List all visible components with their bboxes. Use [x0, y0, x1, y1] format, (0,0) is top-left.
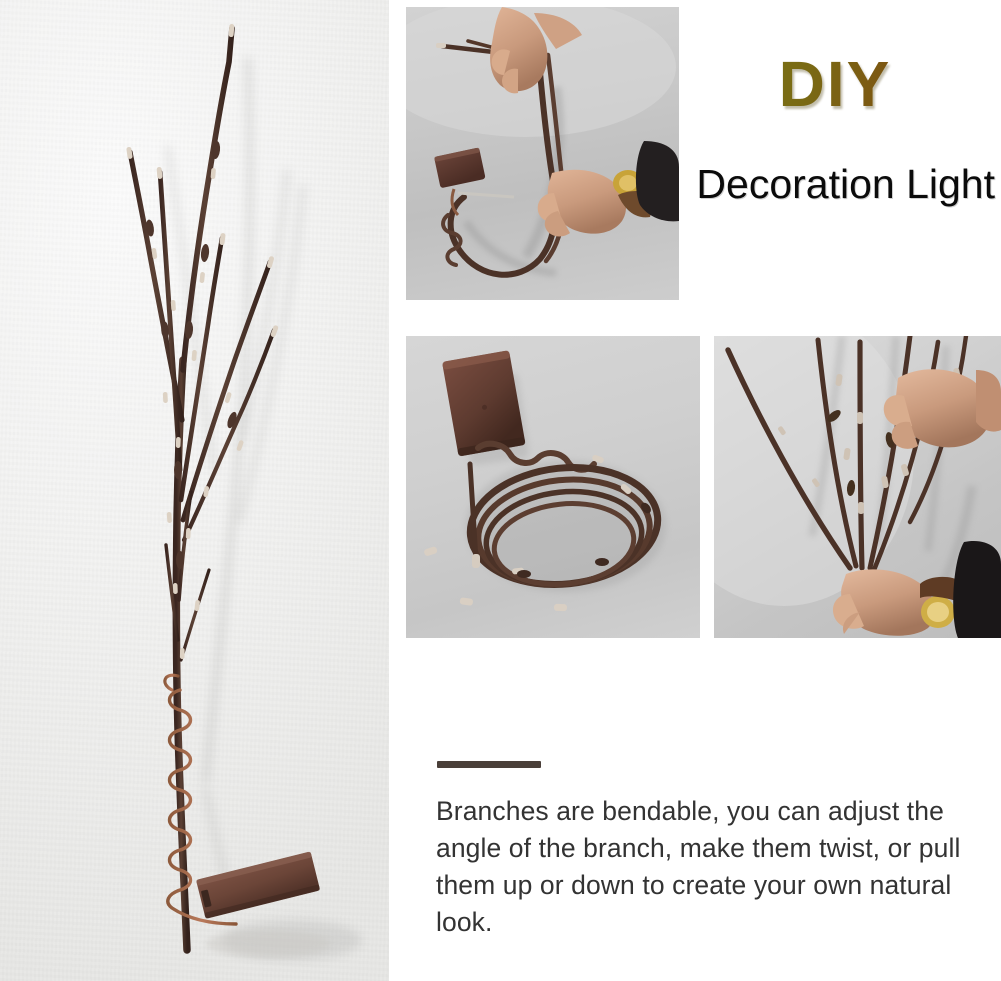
- battery-box-shadow: [206, 930, 330, 958]
- headline-subtitle: Decoration Light: [600, 163, 995, 206]
- battery-box: [434, 147, 486, 188]
- unwinding-illustration: [406, 7, 679, 300]
- bulb-tip: [436, 43, 446, 48]
- hand-upper: [884, 369, 1001, 449]
- battery-box: [442, 350, 526, 456]
- headline-diy: DIY: [690, 52, 980, 116]
- branch-sprig-c: [181, 570, 209, 660]
- panel-step-unwind-branches: [406, 7, 679, 300]
- branch-lights-illustration: [0, 0, 389, 981]
- panel-step-fan-out-branches: [714, 336, 1001, 638]
- battery-box: [196, 851, 320, 918]
- led-bulb-group: [126, 24, 279, 659]
- panel-product-hero: [0, 0, 389, 981]
- fan-out-illustration: [714, 336, 1001, 638]
- bulb-tip-a: [472, 554, 480, 568]
- coiled-product-illustration: [406, 336, 700, 638]
- sleeve: [953, 541, 1001, 638]
- caption-text: Branches are bendable, you can adjust th…: [436, 793, 982, 941]
- branch-node-group: [145, 141, 238, 569]
- panel-step-coiled-product: [406, 336, 700, 638]
- caption-divider: [437, 761, 541, 768]
- product-marketing-image: DIY Decoration Light Branches are bendab…: [0, 0, 1001, 981]
